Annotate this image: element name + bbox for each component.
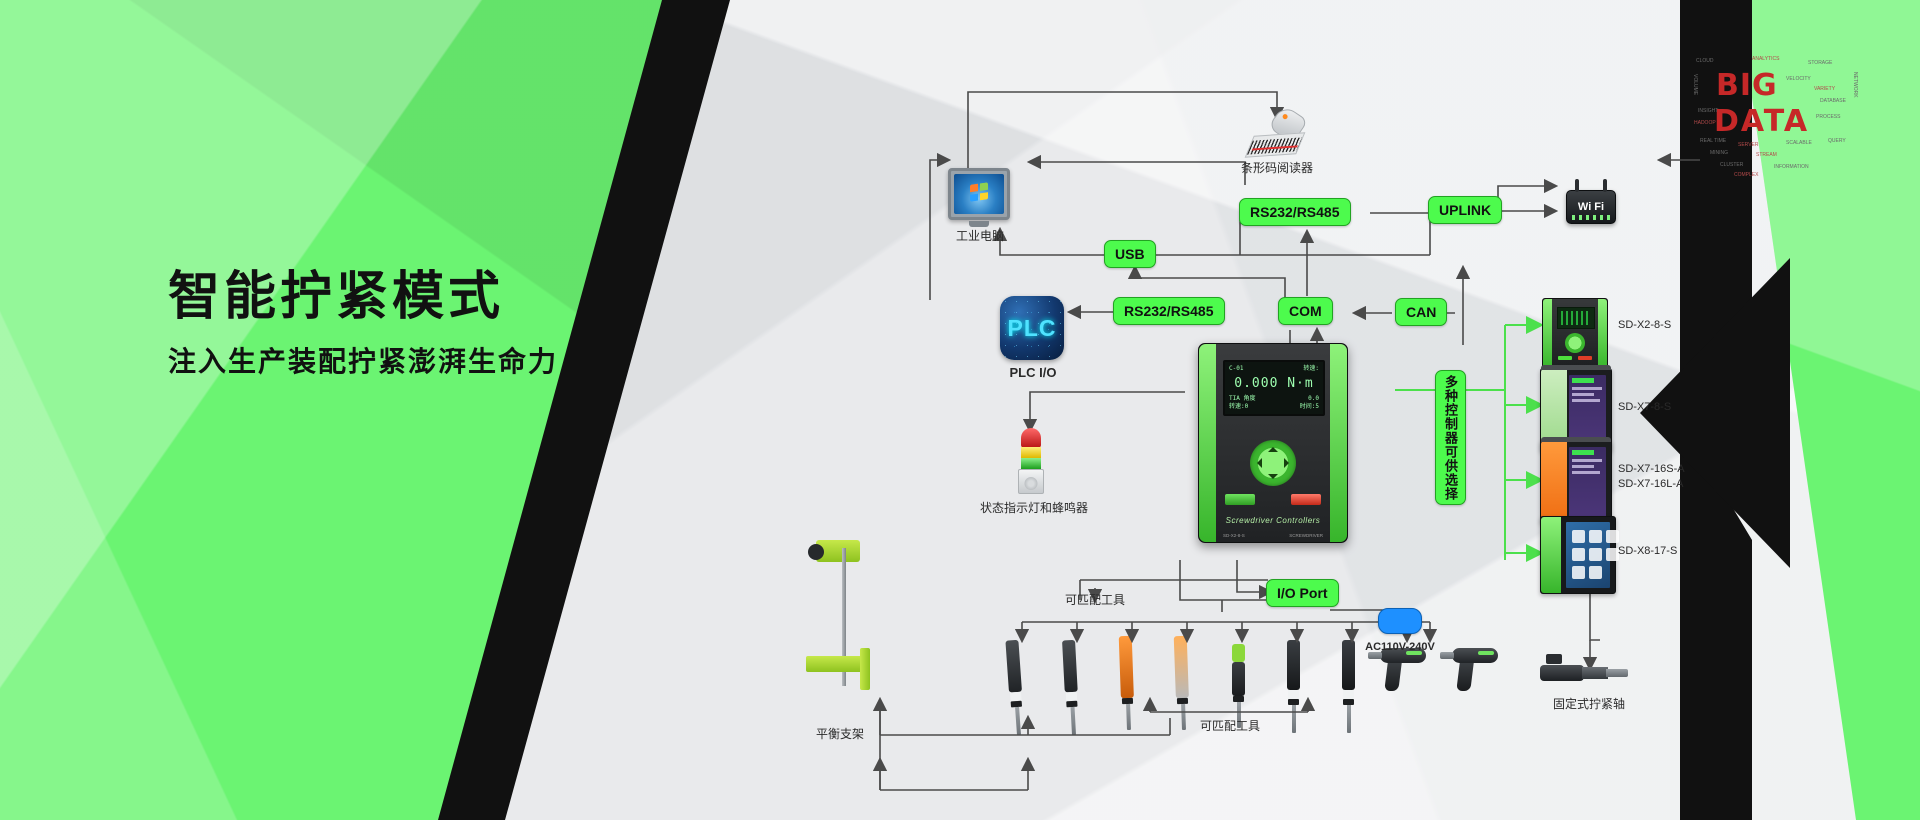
- port-rs232-right[interactable]: RS232/RS485: [1239, 198, 1351, 226]
- bigdata-keyword: SCALABLE: [1786, 140, 1812, 146]
- controller-button-green[interactable]: [1225, 494, 1255, 505]
- controller-footer-left: SD-X2-8-S: [1223, 533, 1245, 538]
- power-connector-icon[interactable]: [1378, 608, 1422, 634]
- port-io[interactable]: I/O Port: [1266, 579, 1339, 607]
- bigdata-keyword: SERVER: [1738, 142, 1758, 148]
- hero-subtitle: 注入生产装配拧紧澎湃生命力: [168, 340, 558, 380]
- bigdata-keyword: VOLUME: [1692, 74, 1698, 95]
- sd-x2-8-s-label: SD-X2-8-S: [1618, 318, 1671, 333]
- bigdata-keyword: MINING: [1710, 150, 1728, 156]
- bigdata-keyword: QUERY: [1828, 138, 1846, 144]
- balance-arm-icon: [816, 540, 860, 562]
- banner-stage: 智能拧紧模式 注入生产装配拧紧澎湃生命力: [0, 0, 1920, 820]
- hero-text-block: 智能拧紧模式 注入生产装配拧紧澎湃生命力: [168, 268, 558, 380]
- controller-buttons[interactable]: [1225, 494, 1321, 505]
- bigdata-word-data: DATA: [1714, 104, 1809, 139]
- sd-x8-17-s-icon: [1540, 516, 1616, 594]
- controller-button-red[interactable]: [1291, 494, 1321, 505]
- balance-bracket-node[interactable]: [798, 540, 886, 690]
- bigdata-keyword: CLOUD: [1696, 58, 1714, 64]
- lcd-line3-right: 0.0: [1308, 395, 1319, 404]
- industrial-pc-node[interactable]: [948, 168, 1010, 220]
- main-controller[interactable]: C-01 转速: 0.000 N·m TIA 角度 0.0 转速:0 时间:5: [1198, 343, 1348, 543]
- wifi-icon: Wi Fi: [1566, 190, 1616, 224]
- sd-x7-16-a-node[interactable]: [1540, 440, 1612, 524]
- bigdata-keyword: VELOCITY: [1786, 76, 1811, 82]
- sd-x2-8-s-icon: [1542, 298, 1608, 370]
- controller-footer-right: SCREWDRIVER: [1289, 533, 1323, 538]
- sd-x8-17-s-label: SD-X8-17-S: [1618, 544, 1677, 559]
- bigdata-word-big: BIG: [1716, 68, 1778, 103]
- sd-x2-8-s-node[interactable]: [1542, 298, 1608, 370]
- port-can[interactable]: CAN: [1395, 298, 1447, 326]
- lcd-line3-left: TIA 角度: [1229, 395, 1255, 404]
- bigdata-keyword: STORAGE: [1808, 60, 1832, 66]
- sd-x7-16s-a-label: SD-X7-16S-A: [1618, 462, 1685, 477]
- barcode-reader-icon: [1248, 110, 1306, 158]
- bigdata-keyword: INFORMATION: [1774, 164, 1809, 170]
- lcd-line4-left: 转速:0: [1229, 403, 1248, 412]
- tool-driver-5[interactable]: [1232, 644, 1245, 728]
- port-rs232-left[interactable]: RS232/RS485: [1113, 297, 1225, 325]
- industrial-pc-label: 工业电脑: [938, 228, 1022, 244]
- bigdata-keyword: VARIETY: [1814, 86, 1835, 92]
- lcd-value: 0.000: [1234, 376, 1278, 391]
- hero-title: 智能拧紧模式: [168, 268, 558, 328]
- controller-brand-text: Screwdriver Controllers: [1199, 516, 1347, 525]
- plc-icon: PLC: [1000, 296, 1064, 360]
- bigdata-keyword: NETWORK: [1852, 72, 1858, 98]
- bigdata-keyword: INSIGHT: [1698, 108, 1718, 114]
- balance-bracket-label: 平衡支架: [790, 726, 890, 742]
- stack-light-icon: [1018, 428, 1044, 494]
- matched-tools-label-bottom: 可匹配工具: [1165, 718, 1295, 734]
- bigdata-keyword: HADOOP: [1694, 120, 1716, 126]
- barcode-reader-node[interactable]: [1248, 110, 1306, 158]
- controller-selector-label[interactable]: 多种控制器可供选择: [1435, 370, 1466, 505]
- stack-light-node[interactable]: [1018, 428, 1044, 494]
- port-uplink[interactable]: UPLINK: [1428, 196, 1502, 224]
- barcode-reader-label: 条形码阅读器: [1222, 160, 1332, 176]
- lcd-line4-right: 时间:5: [1300, 403, 1319, 412]
- matched-tools-label-top: 可匹配工具: [1030, 592, 1160, 608]
- plc-label: PLC I/O: [990, 364, 1076, 382]
- bigdata-keyword: ANALYTICS: [1752, 56, 1779, 62]
- plc-node[interactable]: PLC: [1000, 296, 1064, 360]
- monitor-icon: [948, 168, 1010, 220]
- power-label: AC110V-240V: [1348, 640, 1452, 655]
- tool-pistol-2[interactable]: [1452, 648, 1498, 691]
- lcd-line1-right: 转速:: [1303, 365, 1319, 374]
- controller-dpad[interactable]: [1250, 440, 1296, 486]
- controller-unit-icon: C-01 转速: 0.000 N·m TIA 角度 0.0 转速:0 时间:5: [1198, 343, 1348, 543]
- plc-badge: PLC: [1000, 296, 1064, 360]
- wifi-node[interactable]: Wi Fi: [1566, 190, 1616, 224]
- controller-lcd-screen: C-01 转速: 0.000 N·m TIA 角度 0.0 转速:0 时间:5: [1223, 360, 1325, 416]
- bigdata-keyword: CLUSTER: [1720, 162, 1743, 168]
- bigdata-keyword: PROCESS: [1816, 114, 1840, 120]
- stack-light-label: 状态指示灯和蜂鸣器: [964, 500, 1104, 516]
- bigdata-keyword: STREAM: [1756, 152, 1777, 158]
- port-com[interactable]: COM: [1278, 297, 1333, 325]
- bigdata-cloud: BIG DATA CLOUD ANALYTICS STORAGE VOLUME …: [1690, 52, 1870, 182]
- bigdata-keyword: COMPLEX: [1734, 172, 1758, 178]
- sd-x8-17-s-node[interactable]: [1540, 516, 1616, 594]
- lcd-unit: N·m: [1287, 376, 1313, 391]
- bigdata-keyword: REAL TIME: [1700, 138, 1726, 144]
- sd-x7-8-s-label: SD-X7-8-S: [1618, 400, 1671, 415]
- spindle-icon: [1540, 660, 1636, 686]
- lcd-line1-left: C-01: [1229, 365, 1243, 374]
- sd-x7-16l-a-label: SD-X7-16L-A: [1618, 477, 1683, 492]
- bigdata-keyword: DATABASE: [1820, 98, 1846, 104]
- fixed-spindle-label: 固定式拧紧轴: [1524, 696, 1654, 712]
- port-usb[interactable]: USB: [1104, 240, 1156, 268]
- sd-x7-16-a-icon: [1540, 440, 1612, 524]
